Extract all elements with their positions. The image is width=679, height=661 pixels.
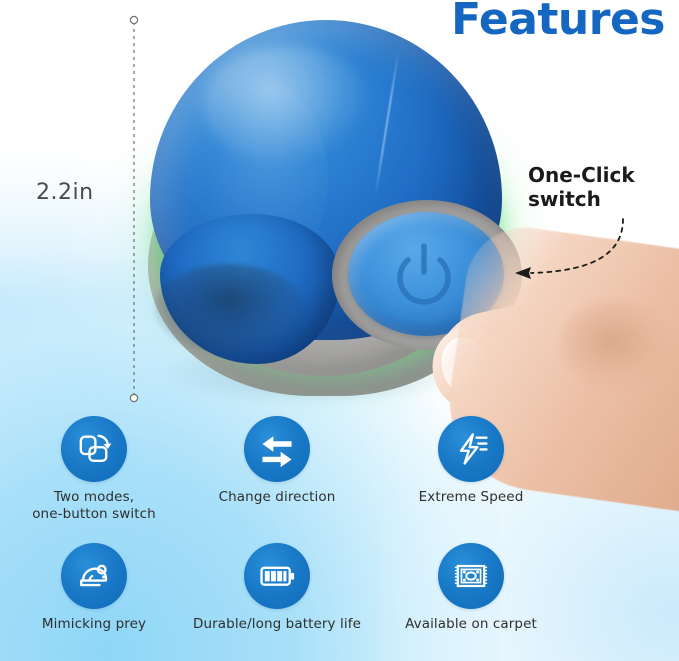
feature-item-battery-life[interactable]: Durable/long battery life	[182, 543, 372, 633]
one-click-switch-callout: One-Click switch	[528, 163, 678, 212]
product-feature-image: Features 2.2in	[0, 0, 679, 661]
dimension-label: 2.2in	[36, 180, 94, 205]
feature-label-two-modes: Two modes, one-button switch	[0, 489, 189, 524]
feature-label-battery-life: Durable/long battery life	[182, 616, 372, 633]
ball-cavity-shadow	[154, 264, 304, 354]
feature-item-mimicking-prey[interactable]: Mimicking prey	[0, 543, 189, 633]
feature-label-line-1: Extreme Speed	[376, 489, 566, 506]
dome-seam-line	[374, 49, 399, 197]
feature-item-extreme-speed[interactable]: Extreme Speed	[376, 416, 566, 506]
change-direction-arrows-icon	[244, 416, 310, 482]
feature-item-two-modes[interactable]: Two modes, one-button switch	[0, 416, 189, 524]
feature-label-line-1: Durable/long battery life	[182, 616, 372, 633]
callout-line-2: switch	[528, 187, 678, 211]
callout-dashed-arrow	[505, 215, 635, 295]
feature-label-line-1: Two modes,	[0, 489, 189, 506]
battery-icon	[244, 543, 310, 609]
feature-label-change-direction: Change direction	[182, 489, 372, 506]
feature-label-extreme-speed: Extreme Speed	[376, 489, 566, 506]
callout-line-1: One-Click	[528, 163, 678, 187]
feature-label-mimicking-prey: Mimicking prey	[0, 616, 189, 633]
feature-label-line-1: Mimicking prey	[0, 616, 189, 633]
carpet-rug-icon	[438, 543, 504, 609]
knuckle-shading	[560, 300, 670, 390]
feature-label-line-2: one-button switch	[0, 506, 189, 523]
lightning-bolt-speed-icon	[438, 416, 504, 482]
mouse-prey-icon	[61, 543, 127, 609]
feature-label-available-on-carpet: Available on carpet	[376, 616, 566, 633]
feature-item-available-on-carpet[interactable]: Available on carpet	[376, 543, 566, 633]
feature-item-change-direction[interactable]: Change direction	[182, 416, 372, 506]
two-modes-switch-icon	[61, 416, 127, 482]
feature-label-line-1: Change direction	[182, 489, 372, 506]
feature-label-line-1: Available on carpet	[376, 616, 566, 633]
feature-grid: Two modes, one-button switch Change dire…	[0, 408, 679, 661]
